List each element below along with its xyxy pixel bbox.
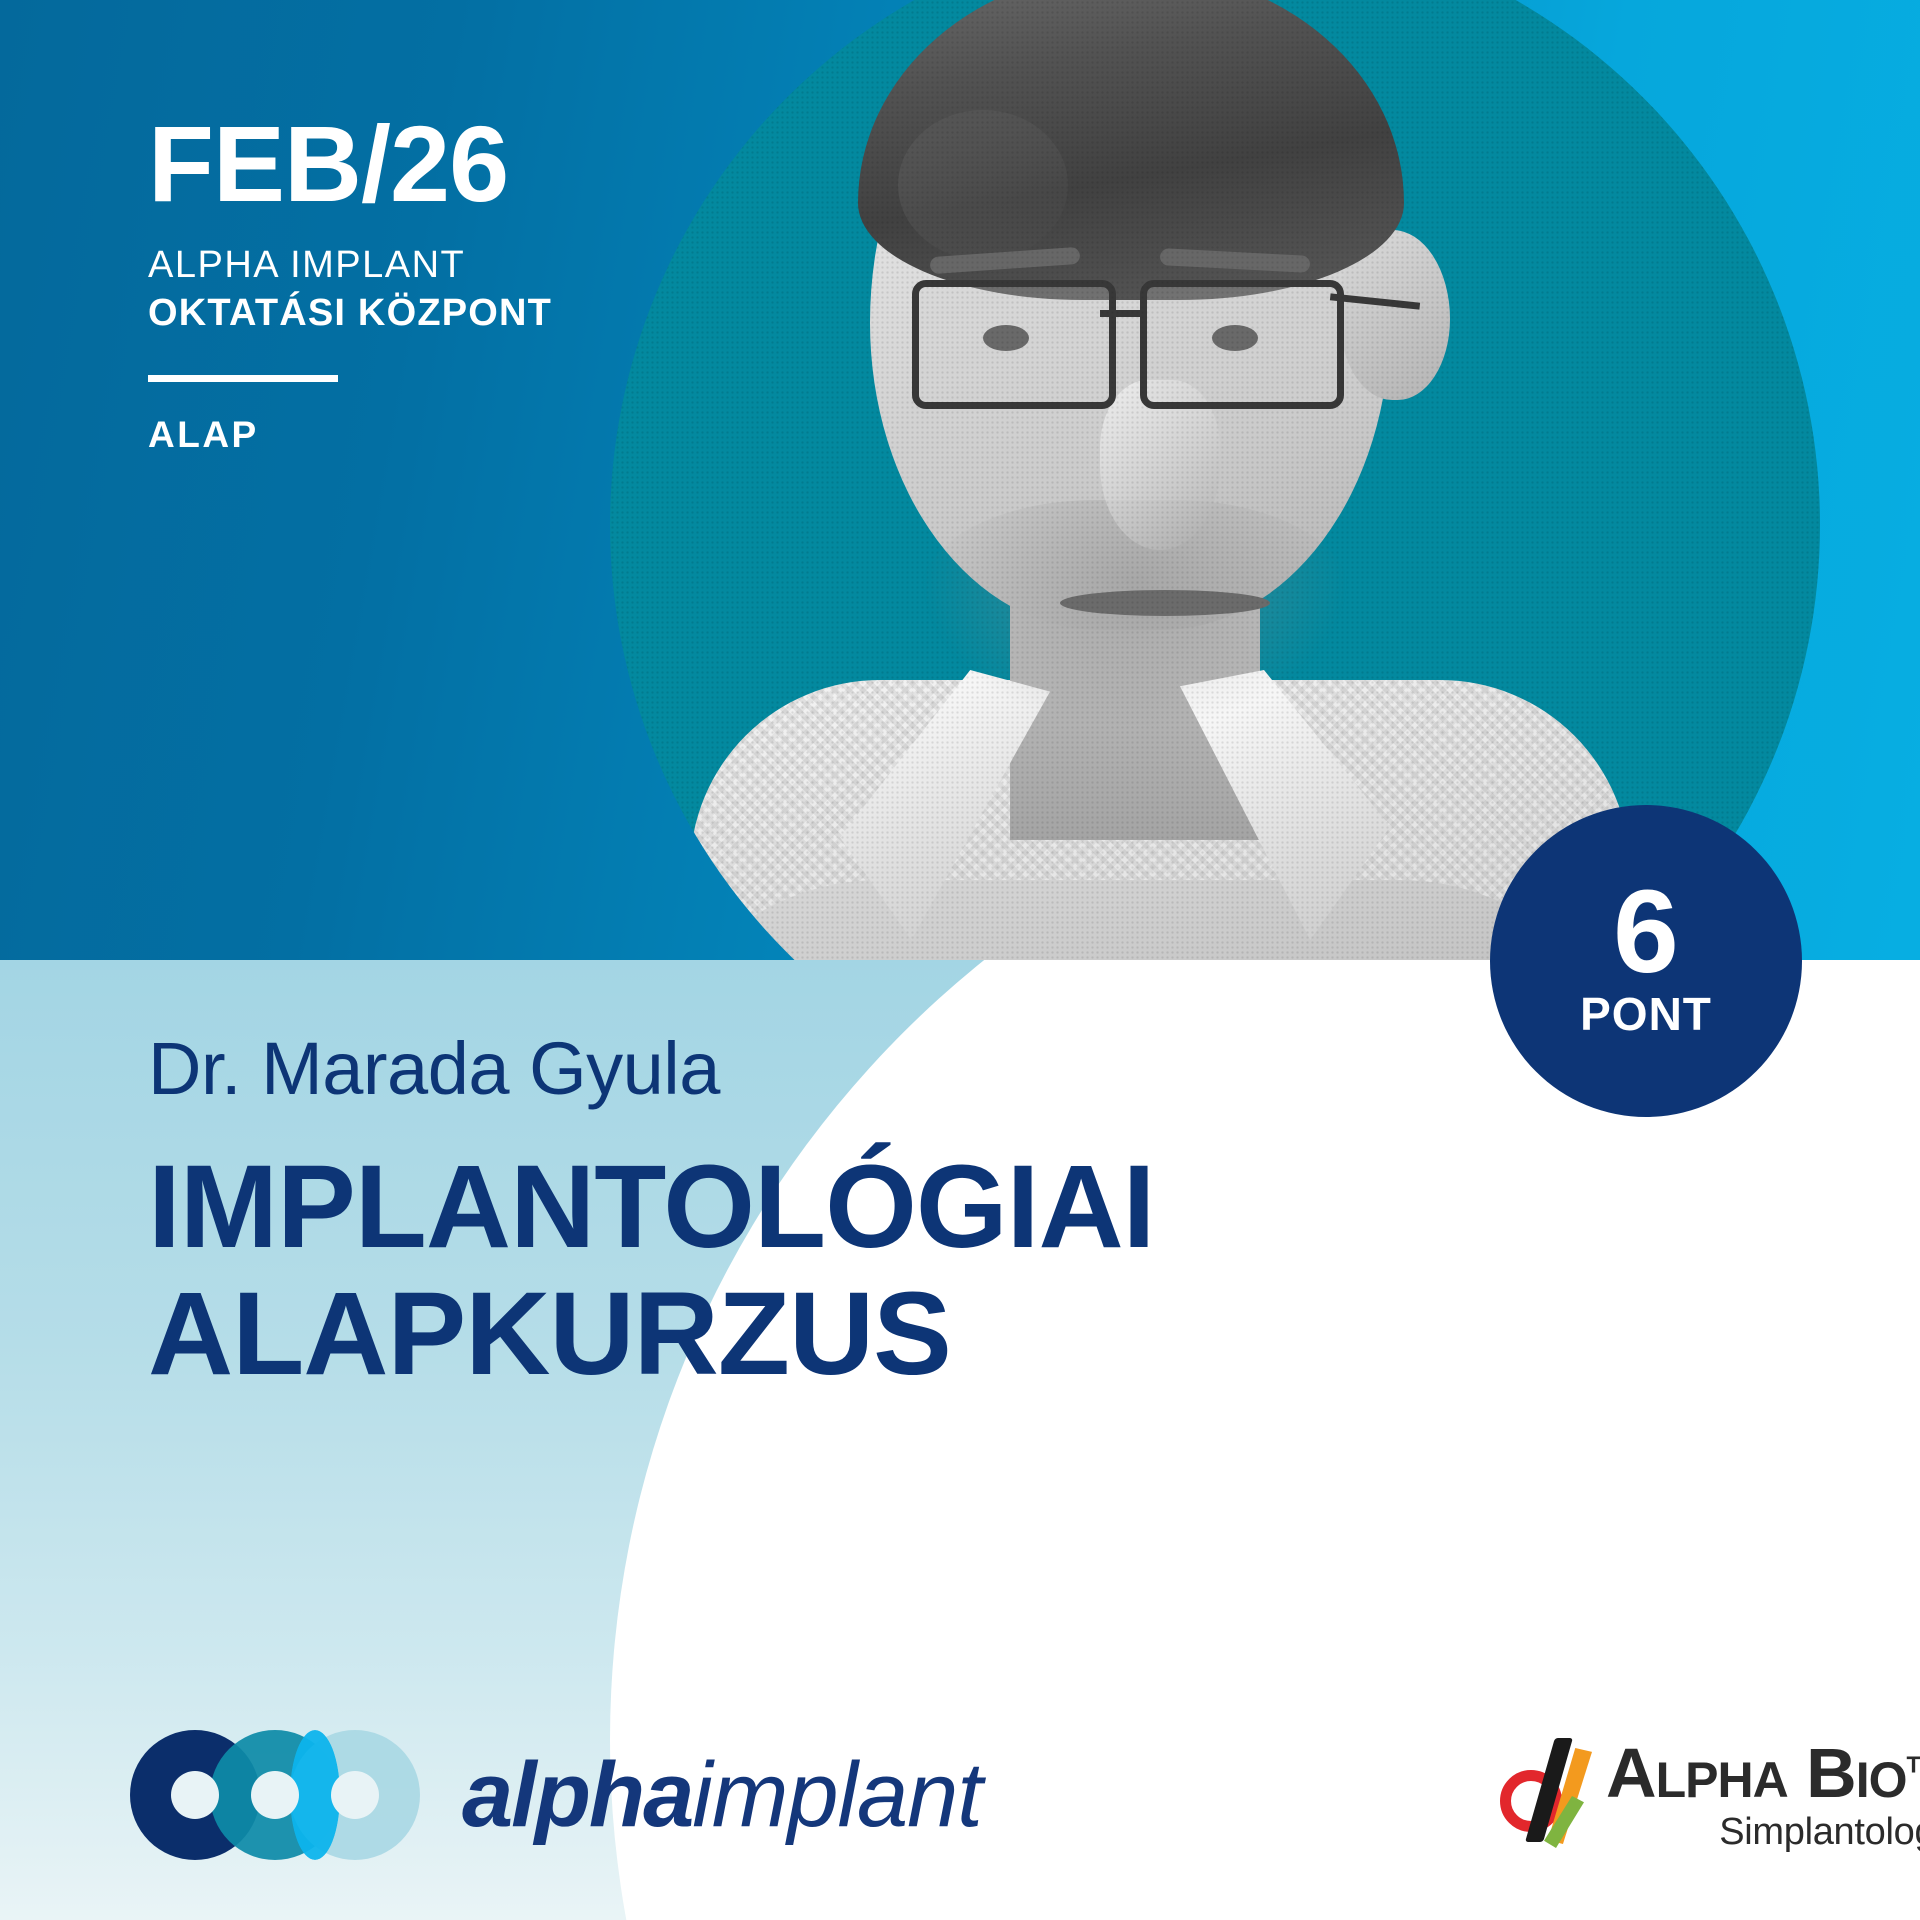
course-title: IMPLANTOLÓGIAI ALAPKURZUS [148, 1144, 1154, 1399]
ring-hole-2 [251, 1771, 299, 1819]
event-date: FEB/26 [148, 110, 552, 218]
alphaimplant-wordmark: alphaimplant [462, 1749, 982, 1841]
header-text-block: FEB/26 ALPHA IMPLANT OKTATÁSI KÖZPONT AL… [148, 110, 552, 456]
ring-hole-1 [171, 1771, 219, 1819]
alphabio-letter-a: A [1606, 1734, 1656, 1812]
venue-name-line2: OKTATÁSI KÖZPONT [148, 292, 552, 336]
header-divider [148, 375, 338, 382]
course-title-line2: ALAPKURZUS [148, 1271, 1154, 1398]
alphabio-logo: ALPHA BIOTEC Simplantology [1500, 1740, 1920, 1851]
course-title-line1: IMPLANTOLÓGIAI [148, 1144, 1154, 1271]
alphabio-tagline: Simplantology [1606, 1813, 1920, 1851]
points-label: PONT [1580, 987, 1712, 1041]
alphabio-tec-label: TEC [1906, 1752, 1920, 1778]
alphabio-letter-b: B [1806, 1734, 1856, 1812]
points-number: 6 [1613, 881, 1679, 985]
alphaimplant-word-alpha: alpha [462, 1744, 692, 1846]
alphaimplant-rings-icon [130, 1730, 420, 1860]
ring-hole-3 [331, 1771, 379, 1819]
alphabio-mark-icon [1500, 1740, 1600, 1848]
main-copy-block: Dr. Marada Gyula IMPLANTOLÓGIAI ALAPKURZ… [148, 1030, 1154, 1399]
promo-poster: FEB/26 ALPHA IMPLANT OKTATÁSI KÖZPONT AL… [0, 0, 1920, 1920]
alphabio-text-block: ALPHA BIOTEC Simplantology [1606, 1740, 1920, 1851]
venue-name-line1: ALPHA IMPLANT [148, 244, 552, 288]
alphaimplant-word-implant: implant [692, 1744, 982, 1846]
presenter-name: Dr. Marada Gyula [148, 1030, 1154, 1108]
course-level: ALAP [148, 414, 552, 456]
alphabio-wordmark: ALPHA BIOTEC [1606, 1740, 1920, 1807]
alphaimplant-logo: alphaimplant [130, 1730, 982, 1860]
alphabio-letters-io: IO [1856, 1752, 1907, 1808]
points-badge: 6 PONT [1490, 805, 1802, 1117]
alphabio-letters-lpha: LPHA [1656, 1752, 1788, 1808]
